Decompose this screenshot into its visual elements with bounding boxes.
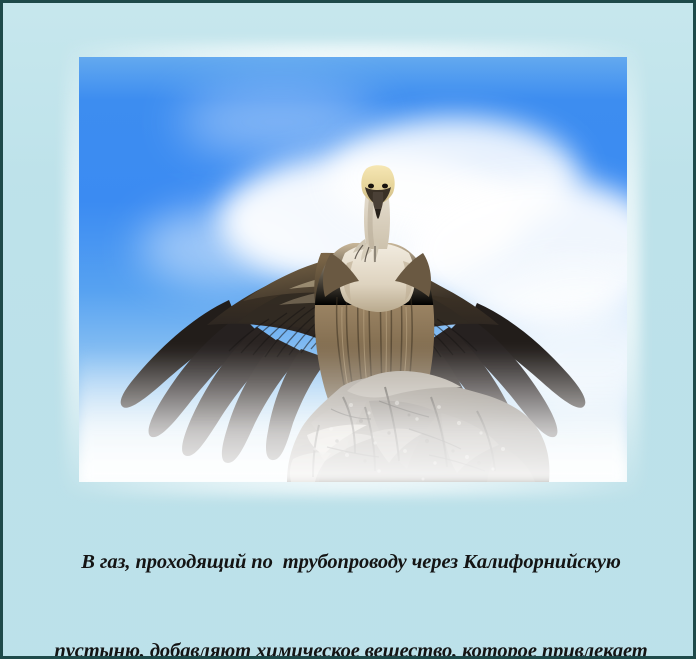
photo-container bbox=[79, 57, 627, 482]
caption-text: В газ, проходящий по трубопроводу через … bbox=[19, 489, 683, 659]
photo-bottom-haze bbox=[79, 347, 627, 482]
fact-card: В газ, проходящий по трубопроводу через … bbox=[0, 0, 696, 659]
caption-line: В газ, проходящий по трубопроводу через … bbox=[19, 548, 683, 578]
vulture-photo bbox=[79, 57, 627, 482]
caption-line: пустыню, добавляют химическое вещество, … bbox=[19, 637, 683, 659]
